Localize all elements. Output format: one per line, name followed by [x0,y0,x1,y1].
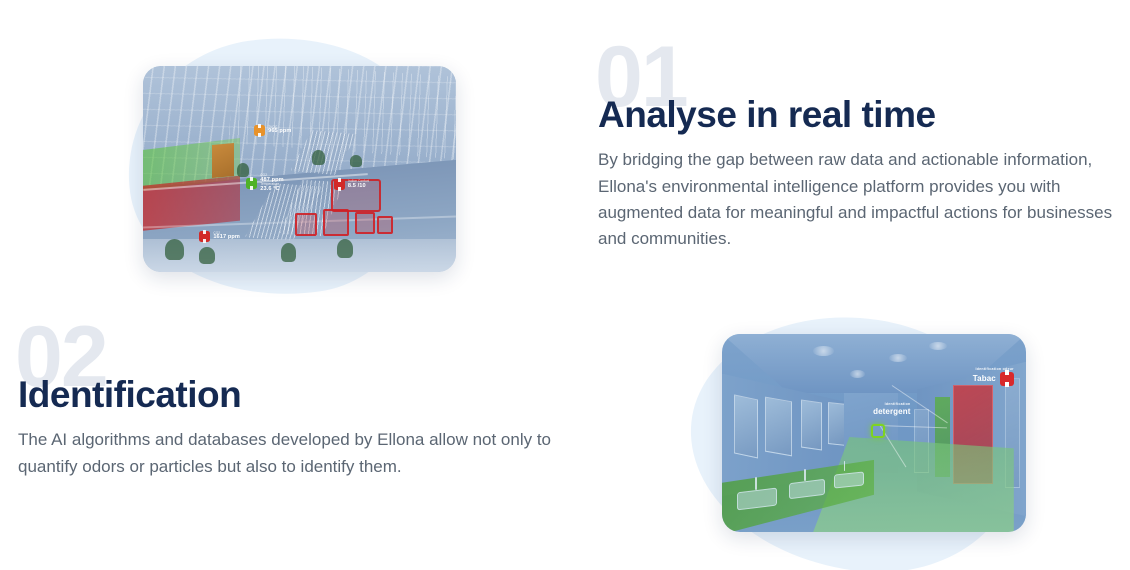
ar-marker-co2-temp: CO2 487 ppm Temperature 23.6 °C [246,174,283,192]
red-detection-box [377,216,393,234]
mirror [765,397,792,457]
ar-label-tabac: Identification odeur Tabac [868,368,1014,386]
section-heading: Identification [18,322,563,415]
plant [281,243,297,262]
faucet [844,461,846,471]
red-detection-cluster [293,206,393,243]
ar-marker-text: Indice Confort 8.5 /10 [348,180,369,189]
sensor-red-icon [199,231,210,242]
sink [834,471,864,488]
plant [199,247,215,263]
orange-panel [212,143,234,178]
faucet [804,469,806,481]
ceiling-light [850,370,865,378]
sensor-red-icon [334,179,345,190]
ar-label-main: detergent [789,407,911,416]
page-root: TVOC 965 ppm CO2 487 ppm Temperature 23.… [0,0,1130,570]
ar-label-main: Tabac [973,374,996,383]
ar-label-detergent: Identification detergent [789,403,911,416]
section-body-text: By bridging the gap between raw data and… [598,147,1114,252]
sensor-green-icon [246,178,257,189]
ar-marker-co2-high: CO2 1617 ppm [199,231,240,242]
detection-marker-green-icon [871,424,885,438]
section-identification: 02 Identification The AI algorithms and … [18,322,563,480]
ar-label-row: Tabac [868,372,1014,386]
ar-marker-text: CO2 487 ppm Temperature 23.6 °C [260,174,283,192]
detection-target-green [871,424,885,438]
red-detection-box [323,209,349,236]
mall-scene: TVOC 965 ppm CO2 487 ppm Temperature 23.… [143,66,456,272]
ar-marker-comfort-index: Indice Confort 8.5 /10 [334,179,369,190]
plant [312,150,325,164]
ceiling-light [929,342,947,350]
ar-marker-value: 965 ppm [268,129,291,135]
red-detection-box [355,212,375,234]
sensor-orange-icon [254,125,265,136]
ar-marker-value: 8.5 /10 [348,184,369,190]
restroom-scene: Identification odeur Tabac Identificatio… [722,334,1026,532]
mall-floor [143,239,456,272]
section-heading: Analyse in real time [598,42,1118,135]
section-number-wrap: 02 Identification [18,322,563,415]
ar-marker-tvoc: TVOC 965 ppm [254,125,291,136]
ar-marker-text: TVOC 965 ppm [268,126,291,135]
ar-marker-text: CO2 1617 ppm [213,232,240,241]
ar-marker-value: 1617 ppm [213,235,240,241]
ar-marker-value: 23.6 °C [260,187,283,193]
section-analyse-in-real-time: 01 Analyse in real time By bridging the … [598,42,1118,253]
plant [337,239,353,258]
ceiling-light [889,354,907,362]
section-body-text: The AI algorithms and databases develope… [18,427,558,480]
mirror [734,395,758,460]
red-detection-box [295,213,317,236]
plant [350,155,363,167]
section-number-wrap: 01 Analyse in real time [598,42,1118,135]
restroom-identification-image: Identification odeur Tabac Identificatio… [722,334,1026,532]
plant [165,239,184,260]
mall-analysis-image: TVOC 965 ppm CO2 487 ppm Temperature 23.… [143,66,456,272]
ceiling-light [813,346,834,356]
faucet [755,477,757,491]
detection-marker-red-icon [1000,372,1014,386]
